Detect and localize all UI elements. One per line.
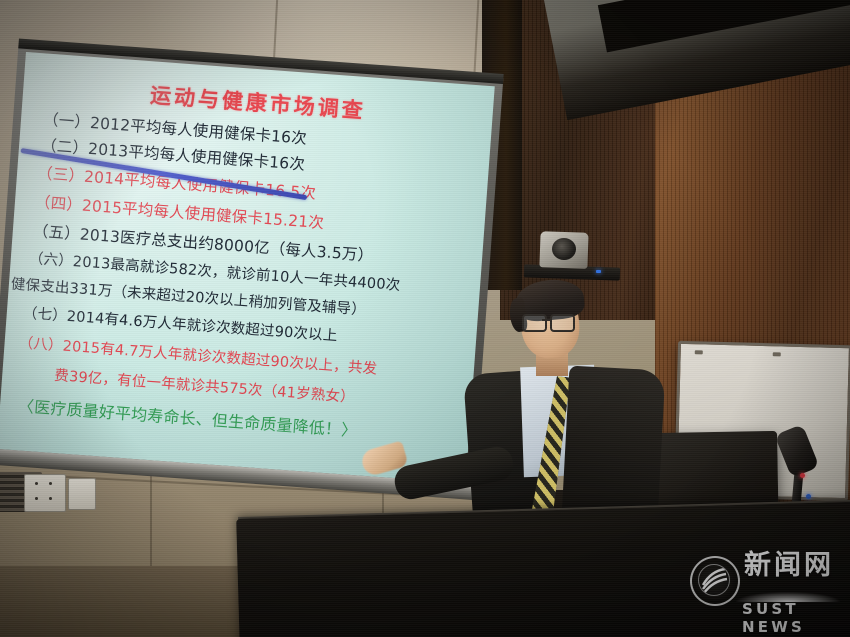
eyeglasses-bridge (542, 319, 550, 321)
photo-canvas: 运动与健康市场调查 （一）2012平均每人使用健保卡16次 （二）2013平均每… (0, 0, 850, 637)
mic-power-led (800, 473, 805, 478)
logo-inner-ring (698, 564, 730, 596)
wall-power-outlet[interactable] (24, 474, 66, 512)
wall-blank-plate[interactable] (68, 478, 96, 510)
projection-screen: 运动与健康市场调查 （一）2012平均每人使用健保卡16次 （二）2013平均每… (0, 52, 495, 485)
eyeglasses-icon (550, 314, 575, 332)
eyeglasses-icon (522, 314, 547, 332)
screen-surface: 运动与健康市场调查 （一）2012平均每人使用健保卡16次 （二）2013平均每… (0, 52, 495, 483)
watermark-chinese: 新闻网 (744, 552, 834, 579)
presentation-slide: 运动与健康市场调查 （一）2012平均每人使用健保卡16次 （二）2013平均每… (0, 52, 495, 483)
watermark-english: SUST NEWS NET (742, 600, 840, 637)
whiteboard-clip (695, 350, 703, 354)
lecture-hall-background: 运动与健康市场调查 （一）2012平均每人使用健保卡16次 （二）2013平均每… (0, 0, 850, 637)
logo-wave-mark (699, 565, 729, 595)
whiteboard-clip (773, 352, 781, 356)
watermark: 新闻网 SUST NEWS NET (690, 552, 840, 626)
mic-mute-led (806, 494, 811, 499)
sust-circular-logo-icon (690, 556, 740, 606)
